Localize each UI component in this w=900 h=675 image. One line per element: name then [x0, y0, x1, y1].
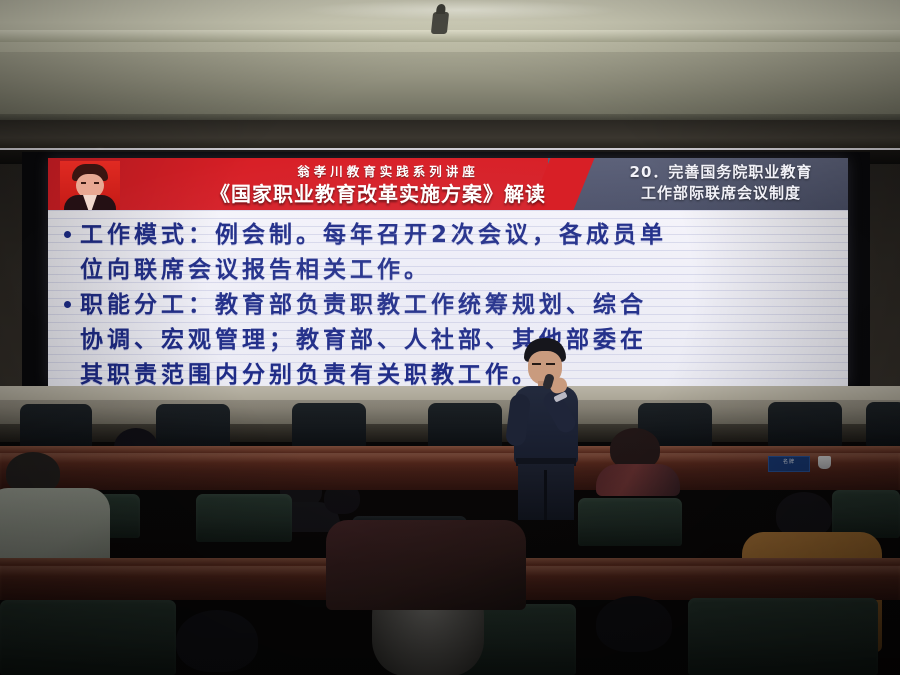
- slide-bullet: 工作模式：例会制。每年召开2次会议，各成员单 位向联席会议报告相关工作。: [48, 218, 848, 288]
- audience-member: [148, 604, 298, 675]
- bullet-dot-icon: [64, 301, 71, 308]
- portrait-eye-right: [94, 182, 99, 184]
- bullet-dot-icon: [64, 231, 71, 238]
- audience-head: [176, 610, 258, 672]
- slide-header-band: 翁孝川教育实践系列讲座 《国家职业教育改革实施方案》解读 20．完善国务院职业教…: [48, 158, 848, 210]
- ceiling-soffit-shadow: [0, 120, 900, 150]
- bullet-line: 工作模式：例会制。每年召开2次会议，各成员单: [80, 218, 832, 253]
- slide-section-title-line2: 工作部际联席会议制度: [596, 183, 846, 204]
- desk-edge: [0, 446, 900, 453]
- chair-back: [428, 403, 502, 449]
- ceiling-beam: [0, 52, 900, 118]
- presenter-brow-right: [546, 363, 555, 365]
- slide-main-title: 《国家职业教育改革实施方案》解读: [168, 178, 588, 207]
- ceiling-mount-hook: [431, 12, 449, 34]
- portrait-eye-left: [81, 182, 86, 184]
- seat: [196, 494, 292, 542]
- chair-back: [292, 403, 366, 449]
- lecture-hall-photo: 翁孝川教育实践系列讲座 《国家职业教育改革实施方案》解读 20．完善国务院职业教…: [0, 0, 900, 675]
- chair-back: [156, 404, 230, 450]
- audience-head: [596, 596, 672, 652]
- presenter: [498, 338, 594, 518]
- tea-cup: [818, 456, 831, 469]
- bullet-line: 协调、宏观管理；教育部、人社部、其他部委在: [80, 323, 832, 358]
- bullet-line: 职能分工：教育部负责职教工作统筹规划、综合: [80, 288, 832, 323]
- name-placard: 名牌: [768, 456, 810, 472]
- audience-body-patterned: [596, 464, 680, 496]
- bullet-text: 职能分工：教育部负责职教工作统筹规划、综合 协调、宏观管理；教育部、人社部、其他…: [80, 288, 832, 386]
- slide-section-title: 20．完善国务院职业教育 工作部际联席会议制度: [596, 162, 846, 204]
- bullet-line: 位向联席会议报告相关工作。: [80, 253, 832, 288]
- ceiling-glow: [300, 0, 620, 20]
- presenter-legs: [518, 464, 574, 520]
- presenter-brow-left: [532, 363, 541, 365]
- audience-body: [326, 520, 526, 610]
- desk-sheen: [0, 453, 900, 463]
- speaker-portrait-photo: [60, 161, 120, 210]
- chair-back: [866, 402, 900, 448]
- audience-member: [330, 520, 520, 675]
- bullet-text: 工作模式：例会制。每年召开2次会议，各成员单 位向联席会议报告相关工作。: [80, 218, 832, 288]
- bullet-line: 其职责范围内分别负责有关职教工作。: [80, 358, 832, 386]
- slide-section-title-line1: 20．完善国务院职业教育: [596, 162, 846, 183]
- slide-body: 工作模式：例会制。每年召开2次会议，各成员单 位向联席会议报告相关工作。 职能分…: [48, 210, 848, 386]
- chair-back: [768, 402, 842, 448]
- seat: [688, 598, 878, 675]
- audience-member: [600, 428, 674, 494]
- slide-bullet: 职能分工：教育部负责职教工作统筹规划、综合 协调、宏观管理；教育部、人社部、其他…: [48, 288, 848, 386]
- chair-back: [20, 404, 92, 450]
- ceiling-rail: [0, 30, 900, 42]
- presentation-slide: 翁孝川教育实践系列讲座 《国家职业教育改革实施方案》解读 20．完善国务院职业教…: [48, 158, 848, 386]
- audience-member: [572, 596, 702, 675]
